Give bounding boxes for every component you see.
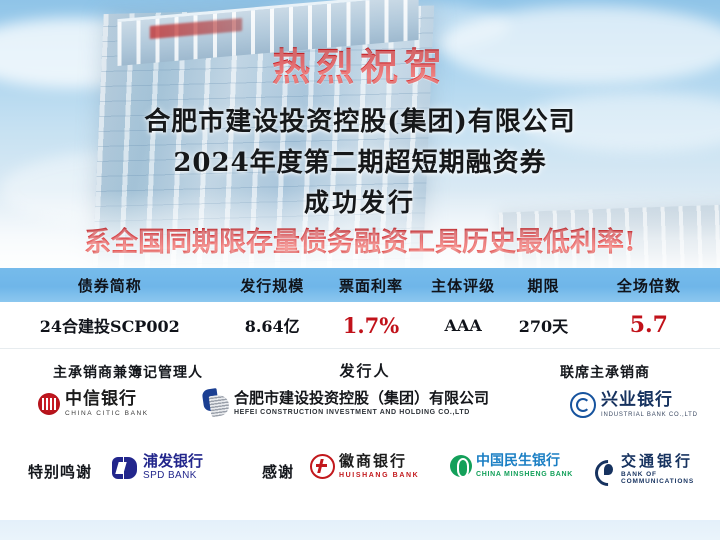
bocom-wordmark: 交通银行 BANK OF COMMUNICATIONS	[621, 454, 720, 485]
bocom-name-cn: 交通银行	[621, 454, 720, 469]
citic-seal-icon	[38, 393, 60, 415]
role-joint-underwriter: 联席主承销商	[500, 362, 710, 382]
industrial-name-cn: 兴业银行	[601, 392, 698, 409]
header-bond-name: 债券简称	[0, 275, 220, 296]
thanks-label: 感谢	[262, 461, 294, 482]
thanks-section: 特别鸣谢 浦发银行 SPD BANK 感谢 徽商银行 HUISHANG BANK…	[0, 448, 720, 496]
huishang-wordmark: 徽商银行 HUISHANG BANK	[339, 454, 419, 479]
table-divider	[0, 348, 720, 349]
citic-name-en: CHINA CITIC BANK	[65, 411, 149, 418]
highlight-subtitle: 系全国同期限存量债务融资工具历史最低利率!	[0, 220, 720, 259]
header-coupon-rate: 票面利率	[325, 275, 417, 296]
hefei-issuer-logo: 合肥市建设投资控股（集团）有限公司 HEFEI CONSTRUCTION INV…	[203, 389, 489, 417]
role-issuer: 发行人	[250, 360, 480, 381]
role-lead-underwriter: 主承销商兼簿记管理人	[18, 362, 238, 382]
salute-headline: 热烈祝贺	[0, 36, 720, 91]
huishang-bank-logo: 徽商银行 HUISHANG BANK	[310, 454, 419, 479]
industrial-name-en: INDUSTRIAL BANK CO.,LTD	[601, 412, 698, 418]
spd-name-en: SPD BANK	[143, 471, 203, 481]
spd-emblem-icon	[112, 457, 139, 479]
minsheng-wordmark: 中国民生银行 CHINA MINSHENG BANK	[476, 454, 573, 478]
citic-name-cn: 中信银行	[65, 391, 149, 408]
congratulation-poster: 热烈祝贺 合肥市建设投资控股(集团)有限公司 2024年度第二期超短期融资券 成…	[0, 0, 720, 540]
industrial-spiral-icon	[570, 392, 596, 418]
industrial-bank-logo: 兴业银行 INDUSTRIAL BANK CO.,LTD	[570, 392, 698, 418]
header-subscription-multiple: 全场倍数	[578, 275, 720, 296]
citic-wordmark: 中信银行 CHINA CITIC BANK	[65, 391, 149, 418]
hefei-wordmark: 合肥市建设投资控股（集团）有限公司 HEFEI CONSTRUCTION INV…	[234, 391, 489, 416]
title-line-3: 成功发行	[0, 183, 720, 219]
spd-name-cn: 浦发银行	[143, 454, 203, 469]
industrial-wordmark: 兴业银行 INDUSTRIAL BANK CO.,LTD	[601, 392, 698, 418]
citic-bank-logo: 中信银行 CHINA CITIC BANK	[38, 391, 149, 418]
spd-bank-logo: 浦发银行 SPD BANK	[112, 454, 203, 481]
special-thanks-label: 特别鸣谢	[28, 461, 92, 482]
bocom-emblem-icon	[595, 460, 617, 480]
hefei-name-en: HEFEI CONSTRUCTION INVESTMENT AND HOLDIN…	[234, 409, 489, 416]
minsheng-emblem-icon	[450, 455, 472, 477]
bocom-name-en: BANK OF COMMUNICATIONS	[621, 472, 720, 485]
huishang-emblem-icon	[310, 454, 335, 479]
title-line-1: 合肥市建设投资控股(集团)有限公司	[0, 101, 720, 138]
bond-table-header: 债券简称 发行规模 票面利率 主体评级 期限 全场倍数	[0, 268, 720, 302]
bond-table-row: 24合建投SCP002 8.64亿 1.7% AAA 270天 5.7	[0, 302, 720, 348]
bocom-bank-logo: 交通银行 BANK OF COMMUNICATIONS	[595, 454, 720, 485]
minsheng-bank-logo: 中国民生银行 CHINA MINSHENG BANK	[450, 454, 573, 478]
header-term: 期限	[509, 275, 577, 296]
cell-subscription-multiple: 5.7	[578, 312, 720, 338]
huishang-name-cn: 徽商银行	[339, 454, 419, 469]
hefei-emblem-icon	[203, 389, 229, 417]
minsheng-name-cn: 中国民生银行	[476, 454, 573, 468]
minsheng-name-en: CHINA MINSHENG BANK	[476, 471, 573, 478]
cell-issue-scale: 8.64亿	[220, 313, 325, 337]
title-line-2: 2024年度第二期超短期融资券	[0, 142, 720, 179]
spd-wordmark: 浦发银行 SPD BANK	[143, 454, 203, 481]
header-issue-scale: 发行规模	[220, 275, 325, 296]
footer-band	[0, 520, 720, 540]
cell-bond-name: 24合建投SCP002	[0, 313, 220, 337]
hefei-name-cn: 合肥市建设投资控股（集团）有限公司	[234, 391, 489, 406]
hero-text-block: 热烈祝贺 合肥市建设投资控股(集团)有限公司 2024年度第二期超短期融资券 成…	[0, 0, 720, 268]
cell-coupon-rate: 1.7%	[325, 313, 417, 338]
huishang-name-en: HUISHANG BANK	[339, 472, 419, 479]
header-issuer-rating: 主体评级	[417, 275, 509, 296]
cell-term: 270天	[509, 313, 577, 337]
primary-logo-row: 中信银行 CHINA CITIC BANK 合肥市建设投资控股（集团）有限公司 …	[0, 386, 720, 438]
cell-issuer-rating: AAA	[417, 316, 509, 335]
